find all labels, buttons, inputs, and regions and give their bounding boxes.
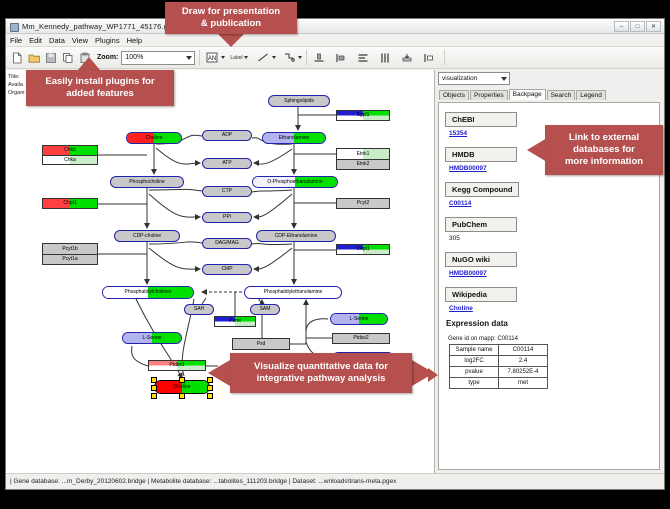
- connector-tool-icon[interactable]: [281, 50, 297, 66]
- minimize-button[interactable]: –: [614, 21, 629, 32]
- table-row: pvalue 7.80252E-4: [450, 367, 548, 378]
- link-callout-line2: databases for: [573, 144, 635, 156]
- visualization-select[interactable]: visualization: [438, 72, 510, 85]
- align-bottom-icon[interactable]: [311, 50, 327, 66]
- svg-text:AN: AN: [208, 56, 216, 62]
- expr-key: pvalue: [450, 367, 499, 378]
- node-label: Ptdss1: [169, 363, 184, 368]
- text-box-icon[interactable]: AN: [204, 50, 220, 66]
- open-folder-icon[interactable]: [26, 50, 42, 66]
- node-sah[interactable]: SAH: [184, 304, 214, 315]
- node-label: Sphingolipids: [284, 99, 314, 104]
- node-label: SAM: [260, 307, 271, 312]
- node-choline-top[interactable]: Choline: [126, 132, 182, 144]
- node-label: Sgpl1: [357, 113, 370, 118]
- node-phosphocholine[interactable]: Phosphocholine: [110, 176, 184, 188]
- zoom-label: Zoom:: [97, 54, 118, 61]
- side-label-title: Title:: [8, 73, 25, 81]
- window-title: Mm_Kennedy_pathway_WP1771_45176.gpml: [22, 22, 180, 31]
- db-header-kegg-compound: Kegg Compound: [445, 182, 519, 197]
- plugins-callout: Easily install plugins for added feature…: [26, 70, 174, 106]
- draw-callout: Draw for presentation & publication: [165, 2, 297, 34]
- expr-value: C00114: [499, 345, 548, 356]
- node-cmp[interactable]: CMP: [202, 264, 252, 275]
- label-tool[interactable]: Label: [230, 55, 247, 61]
- expr-key: Sample name: [450, 345, 499, 356]
- handle-n[interactable]: [179, 377, 185, 383]
- draw-callout-line2: & publication: [201, 18, 261, 30]
- line-tool-icon[interactable]: [255, 50, 271, 66]
- node-psd[interactable]: Psd: [232, 338, 290, 350]
- tab-objects[interactable]: Objects: [439, 90, 469, 100]
- draw-callout-arrow-icon: [218, 34, 244, 47]
- status-bar-text: | Gene database: ...m_Derby_20120602.bri…: [6, 478, 396, 485]
- status-bar: | Gene database: ...m_Derby_20120602.bri…: [6, 473, 664, 489]
- canvas-side-labels: Title: Availa Organi: [8, 73, 25, 97]
- node-label: CMP: [221, 267, 232, 272]
- chevron-down-icon: [272, 56, 276, 59]
- side-label-organism: Organi: [8, 89, 25, 97]
- link-callout-line3: more information: [565, 156, 643, 168]
- node-pcyt1b[interactable]: Pcyt1b: [42, 243, 98, 254]
- node-cept1[interactable]: Cept1: [336, 244, 390, 255]
- node-dag-mag[interactable]: DAG/MAG: [202, 238, 252, 249]
- plugins-callout-line2: added features: [66, 88, 134, 100]
- db-header-wikipedia: Wikipedia: [445, 287, 517, 302]
- distribute-vertical-icon[interactable]: [355, 50, 371, 66]
- tab-legend[interactable]: Legend: [576, 90, 606, 100]
- db-header-nugo-wiki: NuGO wiki: [445, 252, 517, 267]
- db-header-pubchem: PubChem: [445, 217, 517, 232]
- handle-s[interactable]: [179, 393, 185, 399]
- node-label: L-Serine: [350, 317, 369, 322]
- expr-value: 2.4: [499, 356, 548, 367]
- stack-center-icon[interactable]: [399, 50, 415, 66]
- node-ptdss1[interactable]: Ptdss1: [148, 360, 206, 371]
- node-label: Etnk1: [357, 152, 370, 157]
- plugins-callout-line1: Easily install plugins for: [45, 76, 154, 88]
- chevron-down-icon: [501, 77, 507, 81]
- node-label: Chkb: [64, 148, 76, 153]
- copy-icon[interactable]: [60, 50, 76, 66]
- zoom-value: 100%: [125, 54, 143, 61]
- chevron-down-icon: [298, 56, 302, 59]
- node-sam[interactable]: SAM: [250, 304, 280, 315]
- label-tool-label: Label: [230, 55, 242, 61]
- node-chkb[interactable]: Chkb: [42, 145, 98, 155]
- menu-item-help[interactable]: Help: [127, 36, 142, 45]
- align-left-icon[interactable]: [333, 50, 349, 66]
- menu-item-plugins[interactable]: Plugins: [95, 36, 120, 45]
- node-label: Phosphatidylcholines: [125, 290, 172, 295]
- node-etnk1[interactable]: Etnk1: [336, 148, 390, 159]
- toolbar-separator: [444, 50, 445, 65]
- zoom-combobox[interactable]: 100%: [121, 51, 195, 65]
- side-panel-tabs: Objects Properties Backpage Search Legen…: [435, 87, 664, 100]
- node-label: Phosphocholine: [129, 180, 165, 185]
- close-button[interactable]: ✕: [646, 21, 661, 32]
- node-label: CTP: [222, 189, 232, 194]
- table-row: log2FC 2.4: [450, 356, 548, 367]
- node-label: Choline: [174, 385, 191, 390]
- chevron-down-icon: [186, 56, 192, 60]
- node-label: Choline: [146, 136, 163, 141]
- tab-backpage[interactable]: Backpage: [509, 89, 546, 100]
- node-cdp-ethanolamine[interactable]: CDP-Ethanolamine: [256, 230, 336, 242]
- node-label: ADP: [222, 133, 232, 138]
- expr-key: type: [450, 378, 499, 389]
- maximize-button[interactable]: □: [630, 21, 645, 32]
- db-value-pubchem: 305: [449, 235, 659, 242]
- node-pcyt2[interactable]: Pcyt2: [336, 198, 390, 209]
- link-callout: Link to external databases for more info…: [545, 125, 663, 175]
- visualize-callout-line1: Visualize quantitative data for: [254, 361, 388, 373]
- toolbar-separator: [306, 50, 307, 65]
- gene-id-on-mapp: Gene id on mapp: C00114: [448, 336, 659, 342]
- node-ptdss2[interactable]: Ptdss2: [332, 333, 390, 344]
- node-label: DAG/MAG: [215, 241, 239, 246]
- expression-data-heading: Expression data: [446, 319, 659, 328]
- new-file-icon[interactable]: [9, 50, 25, 66]
- node-chka[interactable]: Chka: [42, 155, 98, 165]
- text-box-tool[interactable]: AN: [204, 50, 225, 66]
- db-header-hmdb: HMDB: [445, 147, 517, 162]
- node-label: Etnk2: [357, 162, 370, 167]
- distribute-horizontal-icon[interactable]: [377, 50, 393, 66]
- visualize-callout-line2: integrative pathway analysis: [257, 373, 386, 385]
- draw-callout-line1: Draw for presentation: [182, 6, 280, 18]
- node-label: Ptdss2: [353, 336, 368, 341]
- menu-item-data[interactable]: Data: [49, 36, 65, 45]
- app-icon: [9, 22, 18, 31]
- line-tool[interactable]: [255, 50, 276, 66]
- node-label: Chka: [64, 158, 76, 163]
- node-label: ATP: [222, 161, 231, 166]
- node-sgpl1[interactable]: Sgpl1: [336, 110, 390, 121]
- node-label: Chpt1: [63, 201, 76, 206]
- node-l-serine-left[interactable]: L-Serine: [122, 332, 182, 344]
- screenshot-root: Mm_Kennedy_pathway_WP1771_45176.gpml – □…: [0, 0, 670, 509]
- tab-search[interactable]: Search: [547, 90, 576, 100]
- node-chpt1[interactable]: Chpt1: [42, 198, 98, 209]
- node-phosphatidylcholines[interactable]: Phosphatidylcholines: [102, 286, 194, 299]
- node-o-phosphoethanolamine[interactable]: O-Phosphoethanolamine: [252, 176, 338, 188]
- table-row: Sample name C00114: [450, 345, 548, 356]
- chevron-down-icon: [221, 56, 225, 59]
- node-label: SAH: [194, 307, 204, 312]
- expr-value: 7.80252E-4: [499, 367, 548, 378]
- chevron-down-icon: [244, 56, 248, 59]
- visualization-bar: visualization: [435, 70, 664, 87]
- window-buttons: – □ ✕: [614, 21, 661, 32]
- side-label-available: Availa: [8, 81, 25, 89]
- node-label: L-Serine: [143, 336, 162, 341]
- node-ethanolamine-top[interactable]: Ethanolamine: [262, 132, 326, 144]
- node-label: Psd: [257, 342, 266, 347]
- visualize-callout: Visualize quantitative data for integrat…: [230, 353, 412, 393]
- expr-key: log2FC: [450, 356, 499, 367]
- handle-w[interactable]: [151, 385, 157, 391]
- db-link-nugo-wiki[interactable]: HMDB00097: [449, 270, 659, 277]
- visualization-select-value: visualization: [442, 75, 477, 82]
- node-label: Cept1: [356, 247, 369, 252]
- node-pcyt1a[interactable]: Pcyt1a: [42, 254, 98, 265]
- node-label: PPi: [223, 215, 231, 220]
- link-callout-arrow-icon: [527, 138, 547, 162]
- handle-nw[interactable]: [151, 377, 157, 383]
- pathway-canvas[interactable]: Title: Availa Organi: [6, 70, 435, 473]
- db-header-chebi: ChEBI: [445, 112, 517, 127]
- node-label: Pcyt1b: [62, 247, 77, 252]
- node-pemt[interactable]: Pemt: [214, 316, 256, 327]
- save-icon[interactable]: [43, 50, 59, 66]
- menu-item-edit[interactable]: Edit: [29, 36, 42, 45]
- stack-left-icon[interactable]: [421, 50, 437, 66]
- handle-se[interactable]: [207, 393, 213, 399]
- db-link-wikipedia[interactable]: Choline: [449, 305, 659, 312]
- node-ppi[interactable]: PPi: [202, 212, 252, 223]
- visualize-callout-arrow-left-icon: [208, 360, 230, 386]
- menu-item-view[interactable]: View: [72, 36, 88, 45]
- toolbar: Zoom: 100% AN Label: [6, 47, 664, 69]
- toolbar-separator: [199, 50, 200, 65]
- node-label: CDP-Ethanolamine: [275, 234, 318, 239]
- expr-value: met: [499, 378, 548, 389]
- node-label: Ethanolamine: [279, 136, 310, 141]
- menu-bar: File Edit Data View Plugins Help: [6, 34, 664, 47]
- node-atp[interactable]: ATP: [202, 158, 252, 169]
- handle-sw[interactable]: [151, 393, 157, 399]
- node-etnk2[interactable]: Etnk2: [336, 159, 390, 170]
- node-label: Phosphatidylethanolamine: [264, 290, 323, 295]
- tab-properties[interactable]: Properties: [470, 90, 508, 100]
- table-row: type met: [450, 378, 548, 389]
- node-phosphatidylethanolamine[interactable]: Phosphatidylethanolamine: [244, 286, 342, 299]
- node-ctp[interactable]: CTP: [202, 186, 252, 197]
- connector-tool[interactable]: [281, 50, 302, 66]
- node-l-serine-right[interactable]: L-Serine: [330, 313, 388, 325]
- node-label: Pemt: [229, 319, 241, 324]
- node-label: CDP-choline: [133, 234, 161, 239]
- link-callout-line1: Link to external: [569, 132, 639, 144]
- node-cdp-choline[interactable]: CDP-choline: [114, 230, 180, 242]
- plugins-callout-arrow-icon: [78, 57, 100, 70]
- node-label: Pcyt1a: [62, 257, 77, 262]
- node-label: Pcyt2: [357, 201, 370, 206]
- node-label: O-Phosphoethanolamine: [267, 180, 322, 185]
- menu-item-file[interactable]: File: [10, 36, 22, 45]
- node-sphingolipids[interactable]: Sphingolipids: [268, 95, 330, 107]
- db-link-kegg-compound[interactable]: C00114: [449, 200, 659, 207]
- title-bar: Mm_Kennedy_pathway_WP1771_45176.gpml – □…: [6, 19, 664, 34]
- expression-callout-arrow-icon: [428, 368, 438, 382]
- expression-table: Sample name C00114 log2FC 2.4 pvalue 7.8…: [449, 344, 548, 389]
- node-adp[interactable]: ADP: [202, 130, 252, 141]
